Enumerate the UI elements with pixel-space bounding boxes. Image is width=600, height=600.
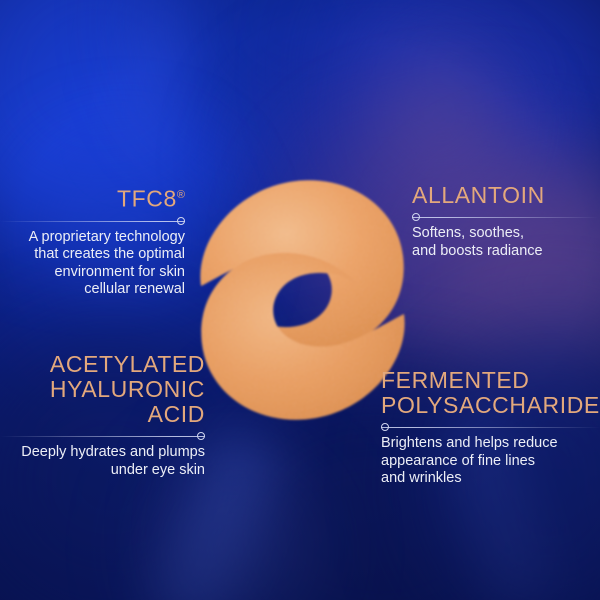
divider-dot-icon <box>412 213 420 221</box>
ingredient-infographic: TFC8® A proprietary technology that crea… <box>0 0 600 600</box>
ingredient-description: A proprietary technology that creates th… <box>0 229 185 299</box>
divider-rule <box>0 431 205 441</box>
ingredient-name: ACETYLATED HYALURONIC ACID <box>50 351 205 427</box>
ingredient-block-tfc8: TFC8® A proprietary technology that crea… <box>0 183 185 299</box>
ingredient-name: TFC8 <box>117 186 177 212</box>
divider-dot-icon <box>177 217 185 225</box>
ingredient-name: ALLANTOIN <box>412 182 545 208</box>
ingredient-name: FERMENTED POLYSACCHARIDE <box>381 367 600 418</box>
ingredient-heading: ACETYLATED HYALURONIC ACID <box>0 352 205 427</box>
divider-line <box>381 427 600 428</box>
ingredient-block-fermented-polysaccharide: FERMENTED POLYSACCHARIDE Brightens and h… <box>381 368 600 488</box>
ingredient-heading: TFC8® <box>0 183 185 212</box>
divider-dot-icon <box>381 423 389 431</box>
ingredient-heading: ALLANTOIN <box>412 183 598 208</box>
ingredient-description: Brightens and helps reduce appearance of… <box>381 435 600 488</box>
ingredient-heading: FERMENTED POLYSACCHARIDE <box>381 368 600 418</box>
ingredient-description: Deeply hydrates and plumps under eye ski… <box>0 444 205 479</box>
ingredient-block-allantoin: ALLANTOIN Softens, soothes, and boosts r… <box>412 183 598 260</box>
divider-line <box>412 217 598 218</box>
divider-line <box>0 221 185 222</box>
divider-rule <box>381 422 600 432</box>
divider-rule <box>412 212 598 222</box>
ingredient-block-acetylated-hyaluronic-acid: ACETYLATED HYALURONIC ACID Deeply hydrat… <box>0 352 205 479</box>
ingredient-description: Softens, soothes, and boosts radiance <box>412 225 598 260</box>
divider-line <box>0 436 205 437</box>
divider-dot-icon <box>197 432 205 440</box>
divider-rule <box>0 216 185 226</box>
registered-trademark-icon: ® <box>177 189 185 201</box>
